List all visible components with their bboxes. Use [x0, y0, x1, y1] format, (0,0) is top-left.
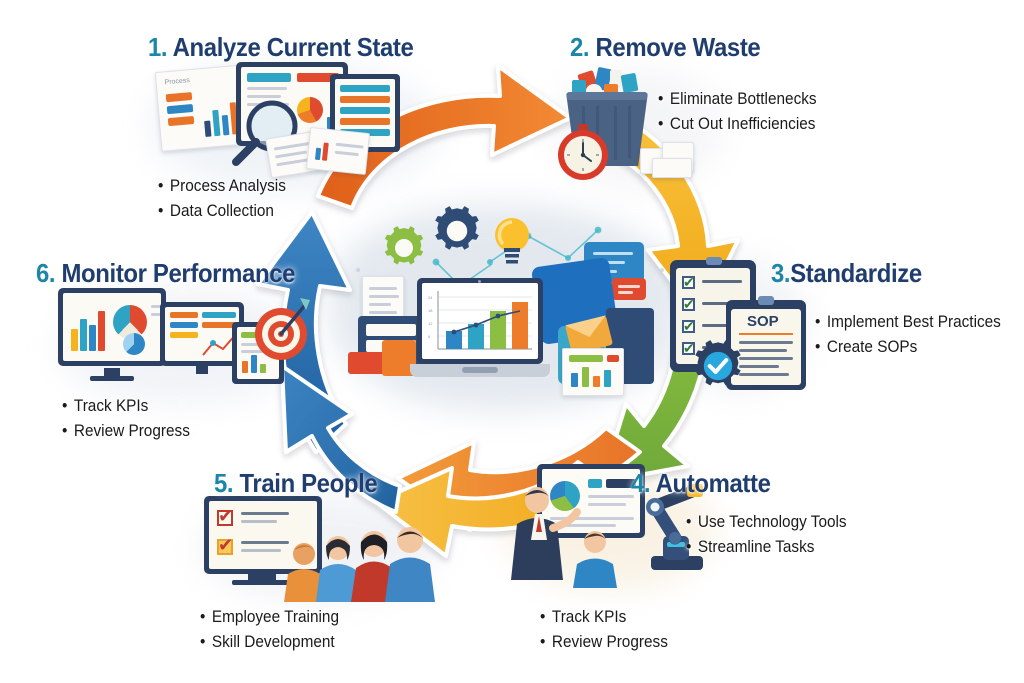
- svg-text:6: 6: [428, 334, 431, 339]
- step2-bullet-2: Cut Out Inefficiencies: [658, 112, 817, 137]
- step3-title-text: Standardize: [790, 258, 922, 288]
- blue-gear-icon: [432, 206, 482, 256]
- step5-illustration: ✔ ✔: [198, 492, 438, 602]
- laptop-icon: 2418 126: [410, 278, 550, 388]
- step1-number: 1.: [148, 32, 167, 62]
- step6-title: 6. Monitor Performance: [36, 258, 295, 289]
- step2-bullet-1: Eliminate Bottlenecks: [658, 87, 817, 112]
- paper-stack-icon: [640, 138, 702, 180]
- target-dart-icon: [250, 296, 312, 364]
- step4-title: 4. Automatte: [631, 468, 771, 499]
- step1-title: 1. Analyze Current State: [148, 32, 413, 63]
- step1-bullets: Process Analysis Data Collection: [158, 174, 286, 224]
- step6-bullet-2: Review Progress: [62, 419, 190, 444]
- step2-title-text: Remove Waste: [596, 32, 761, 62]
- step4-bullets-secondary: Track KPIs Review Progress: [540, 605, 668, 655]
- step1-bullet-2: Data Collection: [158, 199, 286, 224]
- lightbulb-icon: [492, 214, 532, 270]
- step4-secondary-bullet-1: Track KPIs: [540, 605, 668, 630]
- step3-bullet-2: Create SOPs: [815, 335, 1001, 360]
- step4-bullet-2: Streamline Tasks: [686, 535, 847, 560]
- step4-bullet-1: Use Technology Tools: [686, 510, 847, 535]
- step3-number: 3.: [771, 258, 790, 288]
- stopwatch-icon: [554, 124, 612, 182]
- sop-label: SOP: [747, 313, 779, 330]
- step3-bullets: Implement Best Practices Create SOPs: [815, 310, 1001, 360]
- step2-title: 2. Remove Waste: [570, 32, 760, 63]
- step5-title: 5. Train People: [214, 468, 377, 499]
- step2-number: 2.: [570, 32, 589, 62]
- center-chart-bars: [446, 302, 528, 349]
- step6-title-text: Monitor Performance: [62, 258, 296, 288]
- step3-bullet-1: Implement Best Practices: [815, 310, 1001, 335]
- step5-number: 5.: [214, 468, 233, 498]
- step6-bullet-1: Track KPIs: [62, 394, 190, 419]
- monitor-kpi-large: [58, 288, 166, 366]
- step4-bullets: Use Technology Tools Streamline Tasks: [686, 510, 847, 560]
- step5-bullet-1: Employee Training: [200, 605, 339, 630]
- step1-illustration: Process: [150, 60, 410, 185]
- step3-title: 3.Standardize: [771, 258, 922, 289]
- green-gear-icon: [382, 226, 426, 270]
- step2-bullets: Eliminate Bottlenecks Cut Out Inefficien…: [658, 87, 817, 137]
- step1-bullet-1: Process Analysis: [158, 174, 286, 199]
- svg-text:12: 12: [428, 321, 433, 326]
- step5-bullet-2: Skill Development: [200, 630, 339, 655]
- audience-figures: [282, 528, 432, 602]
- report-card-icon: [562, 348, 624, 396]
- step6-illustration: [58, 286, 310, 398]
- seated-person-figure: [569, 528, 627, 588]
- step5-bullets: Employee Training Skill Development: [200, 605, 339, 655]
- step4-number: 4.: [631, 468, 650, 498]
- speech-bubble-red-icon: [612, 278, 646, 300]
- center-illustration: 2418 126: [340, 200, 680, 405]
- presenter-figure: [505, 484, 577, 584]
- gear-check-icon: [692, 340, 744, 392]
- svg-text:24: 24: [428, 295, 433, 300]
- scatter-doc-2: [306, 127, 370, 175]
- step4-title-text: Automatte: [656, 468, 771, 498]
- step6-bullets: Track KPIs Review Progress: [62, 394, 190, 444]
- step1-title-text: Analyze Current State: [173, 32, 414, 62]
- step6-number: 6.: [36, 258, 55, 288]
- step5-title-text: Train People: [240, 468, 378, 498]
- svg-text:18: 18: [428, 308, 433, 313]
- infographic-canvas: 2418 126 Process: [0, 0, 1024, 683]
- step4-secondary-bullet-2: Review Progress: [540, 630, 668, 655]
